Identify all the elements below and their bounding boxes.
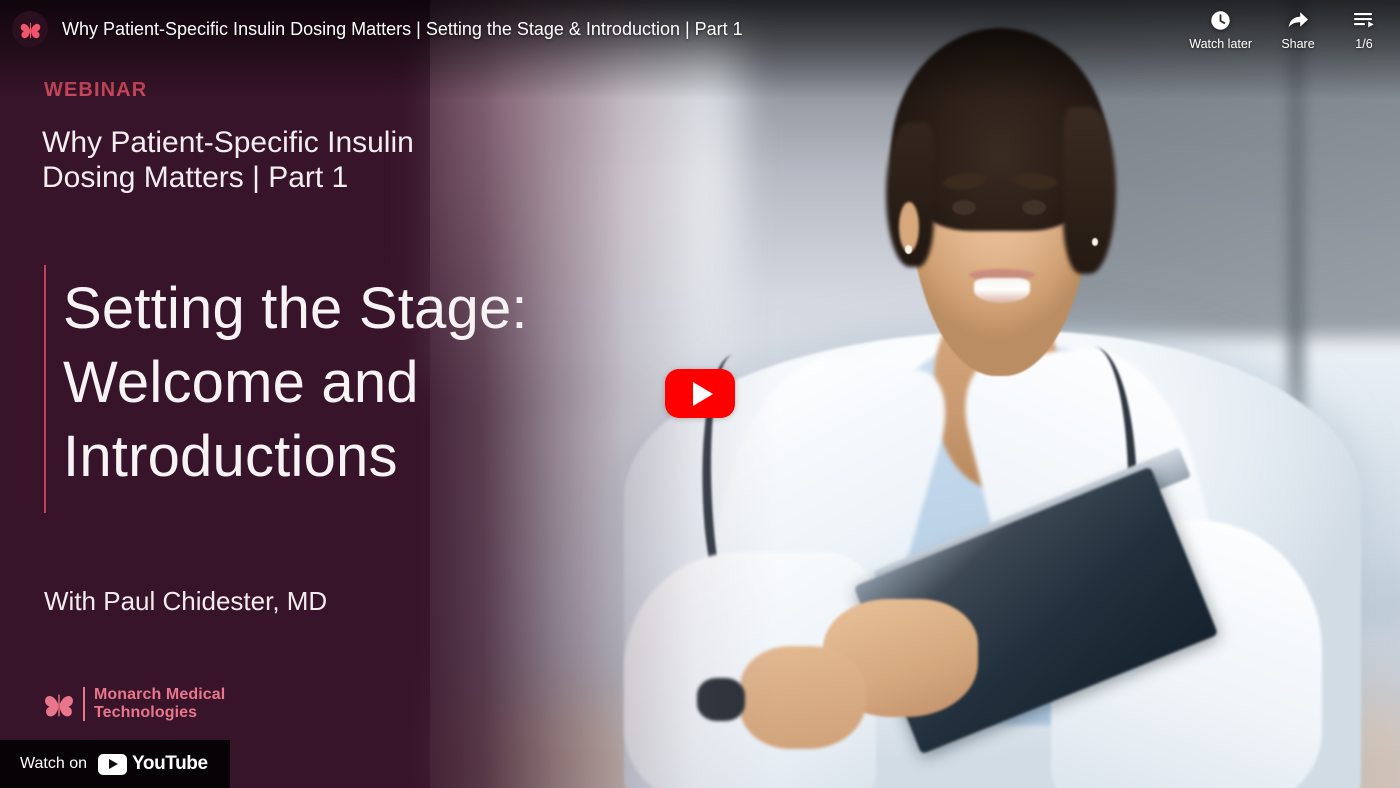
- eye-left: [952, 200, 976, 215]
- watch-later-label: Watch later: [1189, 37, 1252, 51]
- brand-logo-lockup: Monarch Medical Technologies: [44, 686, 225, 722]
- logo-wordmark-line1: Monarch Medical: [94, 686, 225, 703]
- player-title-bar: Why Patient-Specific Insulin Dosing Matt…: [0, 0, 743, 47]
- slide-subheading: Why Patient-Specific Insulin Dosing Matt…: [42, 125, 472, 196]
- watch-later-button[interactable]: Watch later: [1189, 8, 1252, 51]
- head: [891, 28, 1109, 390]
- monarch-butterfly-logo-icon: [44, 688, 74, 720]
- slide-content: WEBINAR Why Patient-Specific Insulin Dos…: [0, 0, 700, 788]
- channel-avatar[interactable]: [12, 11, 48, 47]
- player-action-buttons: Watch later Share 1/6: [1189, 8, 1384, 51]
- youtube-play-badge-icon: [98, 754, 127, 775]
- playlist-position-label: 1/6: [1355, 37, 1372, 51]
- youtube-embedded-player[interactable]: WEBINAR Why Patient-Specific Insulin Dos…: [0, 0, 1400, 788]
- share-label: Share: [1281, 37, 1314, 51]
- video-title[interactable]: Why Patient-Specific Insulin Dosing Matt…: [62, 19, 743, 40]
- smiling-mouth: [974, 278, 1031, 303]
- earring-right: [1092, 238, 1099, 246]
- slide-presenter: With Paul Chidester, MD: [44, 586, 327, 617]
- watch-on-label: Watch on: [20, 755, 87, 773]
- hair-right-side: [1063, 107, 1115, 274]
- logo-divider: [83, 687, 85, 721]
- slide-eyebrow-label: WEBINAR: [44, 79, 147, 102]
- youtube-brand-label: YouTube: [132, 753, 208, 775]
- play-button[interactable]: [665, 369, 735, 418]
- logo-wordmark: Monarch Medical Technologies: [94, 686, 225, 722]
- share-arrow-icon: [1286, 8, 1310, 32]
- play-triangle-icon: [693, 382, 713, 406]
- youtube-wordmark: YouTube: [98, 753, 208, 775]
- playlist-indicator[interactable]: 1/6: [1344, 8, 1384, 51]
- playlist-icon: [1352, 8, 1376, 32]
- watch-on-youtube-button[interactable]: Watch on YouTube: [0, 740, 230, 788]
- slide-headline: Setting the Stage: Welcome and Introduct…: [63, 272, 623, 495]
- share-button[interactable]: Share: [1278, 8, 1318, 51]
- logo-wordmark-line2: Technologies: [94, 704, 197, 721]
- clock-icon: [1209, 8, 1232, 32]
- earring-left: [905, 245, 912, 254]
- accent-rule: [44, 265, 46, 513]
- monarch-butterfly-logo-icon: [20, 18, 41, 41]
- eye-right: [1022, 200, 1046, 215]
